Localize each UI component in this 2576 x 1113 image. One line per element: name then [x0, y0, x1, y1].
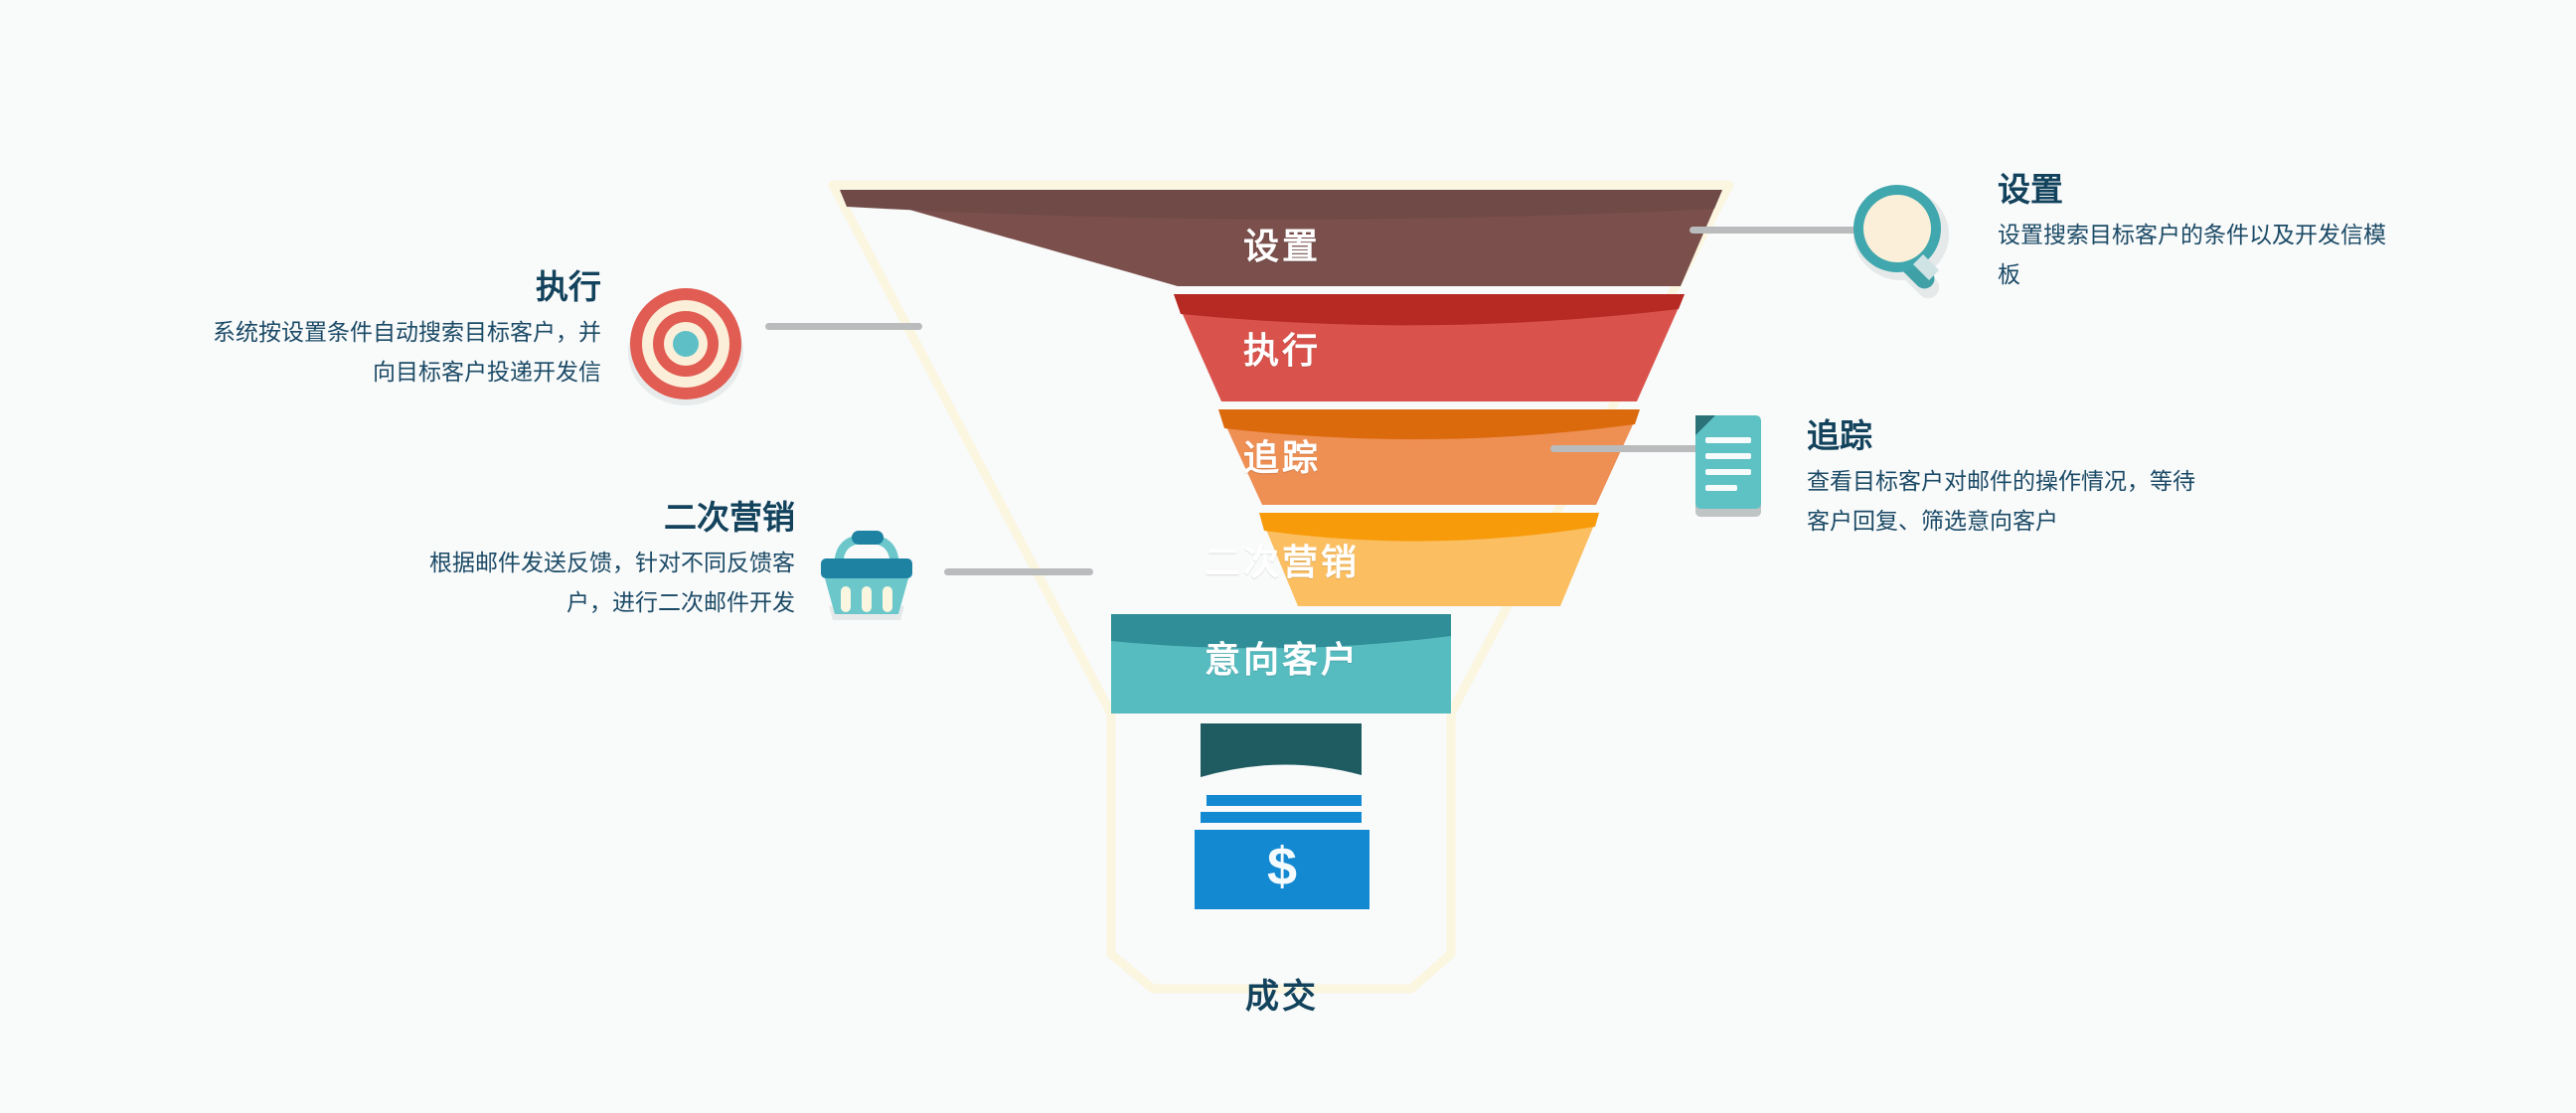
currency-symbol: $: [1267, 837, 1297, 896]
document-icon: [1690, 409, 1773, 524]
funnel-spout: $: [1195, 723, 1369, 909]
document-icon-wrap[interactable]: [1690, 409, 1773, 524]
callout-execute: 执行 系统按设置条件自动搜索目标客户，并向目标客户投递开发信: [179, 266, 601, 392]
funnel-label-remarketing: 二次营销: [1205, 534, 1360, 585]
callout-execute-description: 系统按设置条件自动搜索目标客户，并向目标客户投递开发信: [199, 313, 601, 392]
callout-execute-title: 执行: [179, 266, 601, 307]
leader-line-execute: [765, 323, 922, 330]
magnifier-icon: [1844, 169, 1973, 303]
funnel-label-execute: 执行: [1243, 322, 1321, 374]
leader-line-setting: [1690, 227, 1860, 234]
callout-setting-title: 设置: [1998, 169, 2415, 210]
callout-remarketing: 二次营销 根据邮件发送反馈，针对不同反馈客户，进行二次邮件开发: [378, 497, 795, 622]
funnel-label-setting: 设置: [1243, 218, 1321, 269]
funnel-label-tracking: 追踪: [1243, 429, 1321, 481]
callout-remarketing-title: 二次营销: [378, 497, 795, 538]
callout-tracking: 追踪 查看目标客户对邮件的操作情况，等待客户回复、筛选意向客户: [1807, 415, 2224, 541]
callout-tracking-title: 追踪: [1807, 415, 2224, 456]
target-icon: [624, 286, 757, 409]
stage-setting-highlight: [840, 190, 1722, 220]
spout-money-block: [1195, 830, 1369, 909]
funnel-label-intent: 意向客户: [1205, 631, 1360, 683]
basket-icon: [811, 525, 922, 624]
funnel-outline: [833, 185, 1729, 989]
basket-icon-wrap[interactable]: [811, 525, 922, 624]
callout-tracking-description: 查看目标客户对邮件的操作情况，等待客户回复、筛选意向客户: [1807, 462, 2204, 541]
stage-execute-highlight: [1174, 294, 1685, 325]
spout-bar-lower: [1201, 812, 1362, 823]
deal-label: 成交: [1245, 969, 1319, 1018]
spout-cap: [1201, 723, 1362, 777]
callout-setting: 设置 设置搜索目标客户的条件以及开发信模板: [1998, 169, 2415, 294]
callout-remarketing-description: 根据邮件发送反馈，针对不同反馈客户，进行二次邮件开发: [398, 544, 795, 622]
funnel-diagram: $ 设置 执行 追踪 二次营销 意向客户 成交: [0, 0, 2576, 1113]
leader-line-remarketing: [944, 568, 1093, 575]
target-icon-wrap[interactable]: [624, 286, 757, 409]
magnifier-icon-wrap[interactable]: [1844, 169, 1973, 303]
spout-bar-upper: [1207, 795, 1362, 806]
callout-setting-description: 设置搜索目标客户的条件以及开发信模板: [1998, 216, 2395, 294]
